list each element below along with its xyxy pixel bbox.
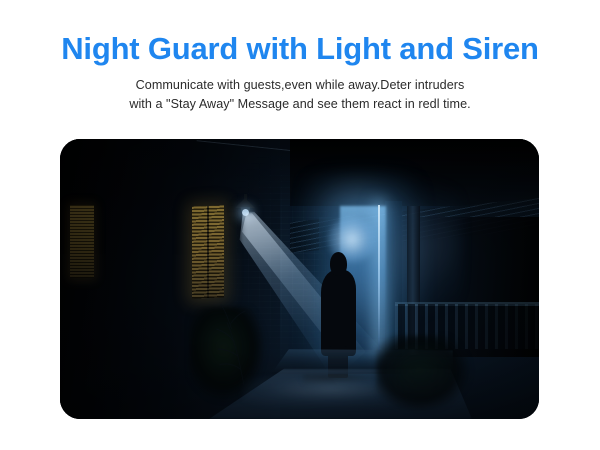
- subtitle-line-2: with a "Stay Away" Message and see them …: [0, 95, 600, 114]
- page-title: Night Guard with Light and Siren: [0, 30, 600, 68]
- night-scene: [60, 139, 539, 419]
- lantern-hood: [235, 198, 255, 208]
- figure-head: [330, 252, 347, 275]
- subtitle-line-1: Communicate with guests,even while away.…: [0, 76, 600, 95]
- page-root: Night Guard with Light and Siren Communi…: [0, 0, 600, 450]
- page-subtitle: Communicate with guests,even while away.…: [0, 76, 600, 114]
- bare-branches: [204, 273, 281, 385]
- hero-image: [60, 139, 539, 419]
- lit-window-far: [70, 205, 95, 278]
- figure-body: [321, 270, 356, 356]
- bush-right: [376, 335, 472, 413]
